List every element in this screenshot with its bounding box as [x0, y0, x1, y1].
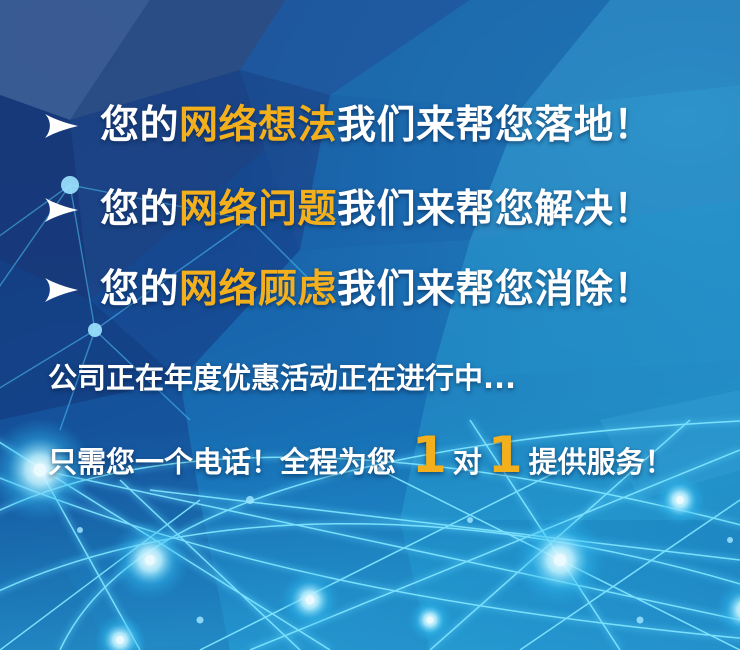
service-number-first: 1 — [406, 430, 453, 480]
bullet-line-1: 您的网络想法我们来帮您落地！ — [42, 106, 653, 145]
bullet-2-text: 您的网络问题我们来帮您解决！ — [100, 190, 653, 229]
bullet-line-3: 您的网络顾虑我们来帮您消除！ — [42, 270, 653, 309]
promo-line: 公司正在年度优惠活动正在进行中... — [48, 364, 516, 393]
bullet-line-2: 您的网络问题我们来帮您解决！ — [42, 190, 653, 229]
arrow-right-icon — [42, 109, 80, 143]
bullet-1-suffix: 我们来帮您落地！ — [337, 103, 653, 148]
promo-banner: 您的网络想法我们来帮您落地！ 您的网络问题我们来帮您解决！ 您的网络顾虑我们来帮… — [0, 0, 740, 650]
service-line: 只需您一个电话！全程为您 1 对 1 提供服务！ — [48, 430, 674, 480]
bullet-1-prefix: 您的 — [100, 103, 179, 148]
bullet-1-accent: 网络想法 — [179, 103, 337, 148]
bullet-3-text: 您的网络顾虑我们来帮您消除！ — [100, 270, 653, 309]
bullet-2-prefix: 您的 — [100, 187, 179, 232]
bullet-3-suffix: 我们来帮您消除！ — [337, 267, 653, 312]
bullet-2-suffix: 我们来帮您解决！ — [337, 187, 653, 232]
bullet-3-prefix: 您的 — [100, 267, 179, 312]
service-middle-text: 对 — [453, 448, 482, 477]
service-text-part-1: 只需您一个电话！全程为您 — [48, 448, 396, 477]
service-number-second: 1 — [482, 430, 529, 480]
bullet-2-accent: 网络问题 — [179, 187, 337, 232]
bullet-3-accent: 网络顾虑 — [179, 267, 337, 312]
banner-content: 您的网络想法我们来帮您落地！ 您的网络问题我们来帮您解决！ 您的网络顾虑我们来帮… — [0, 0, 740, 650]
bullet-1-text: 您的网络想法我们来帮您落地！ — [100, 106, 653, 145]
arrow-right-icon — [42, 273, 80, 307]
service-text-part-2: 提供服务！ — [529, 448, 674, 477]
arrow-right-icon — [42, 193, 80, 227]
promo-text: 公司正在年度优惠活动正在进行中... — [48, 364, 516, 393]
